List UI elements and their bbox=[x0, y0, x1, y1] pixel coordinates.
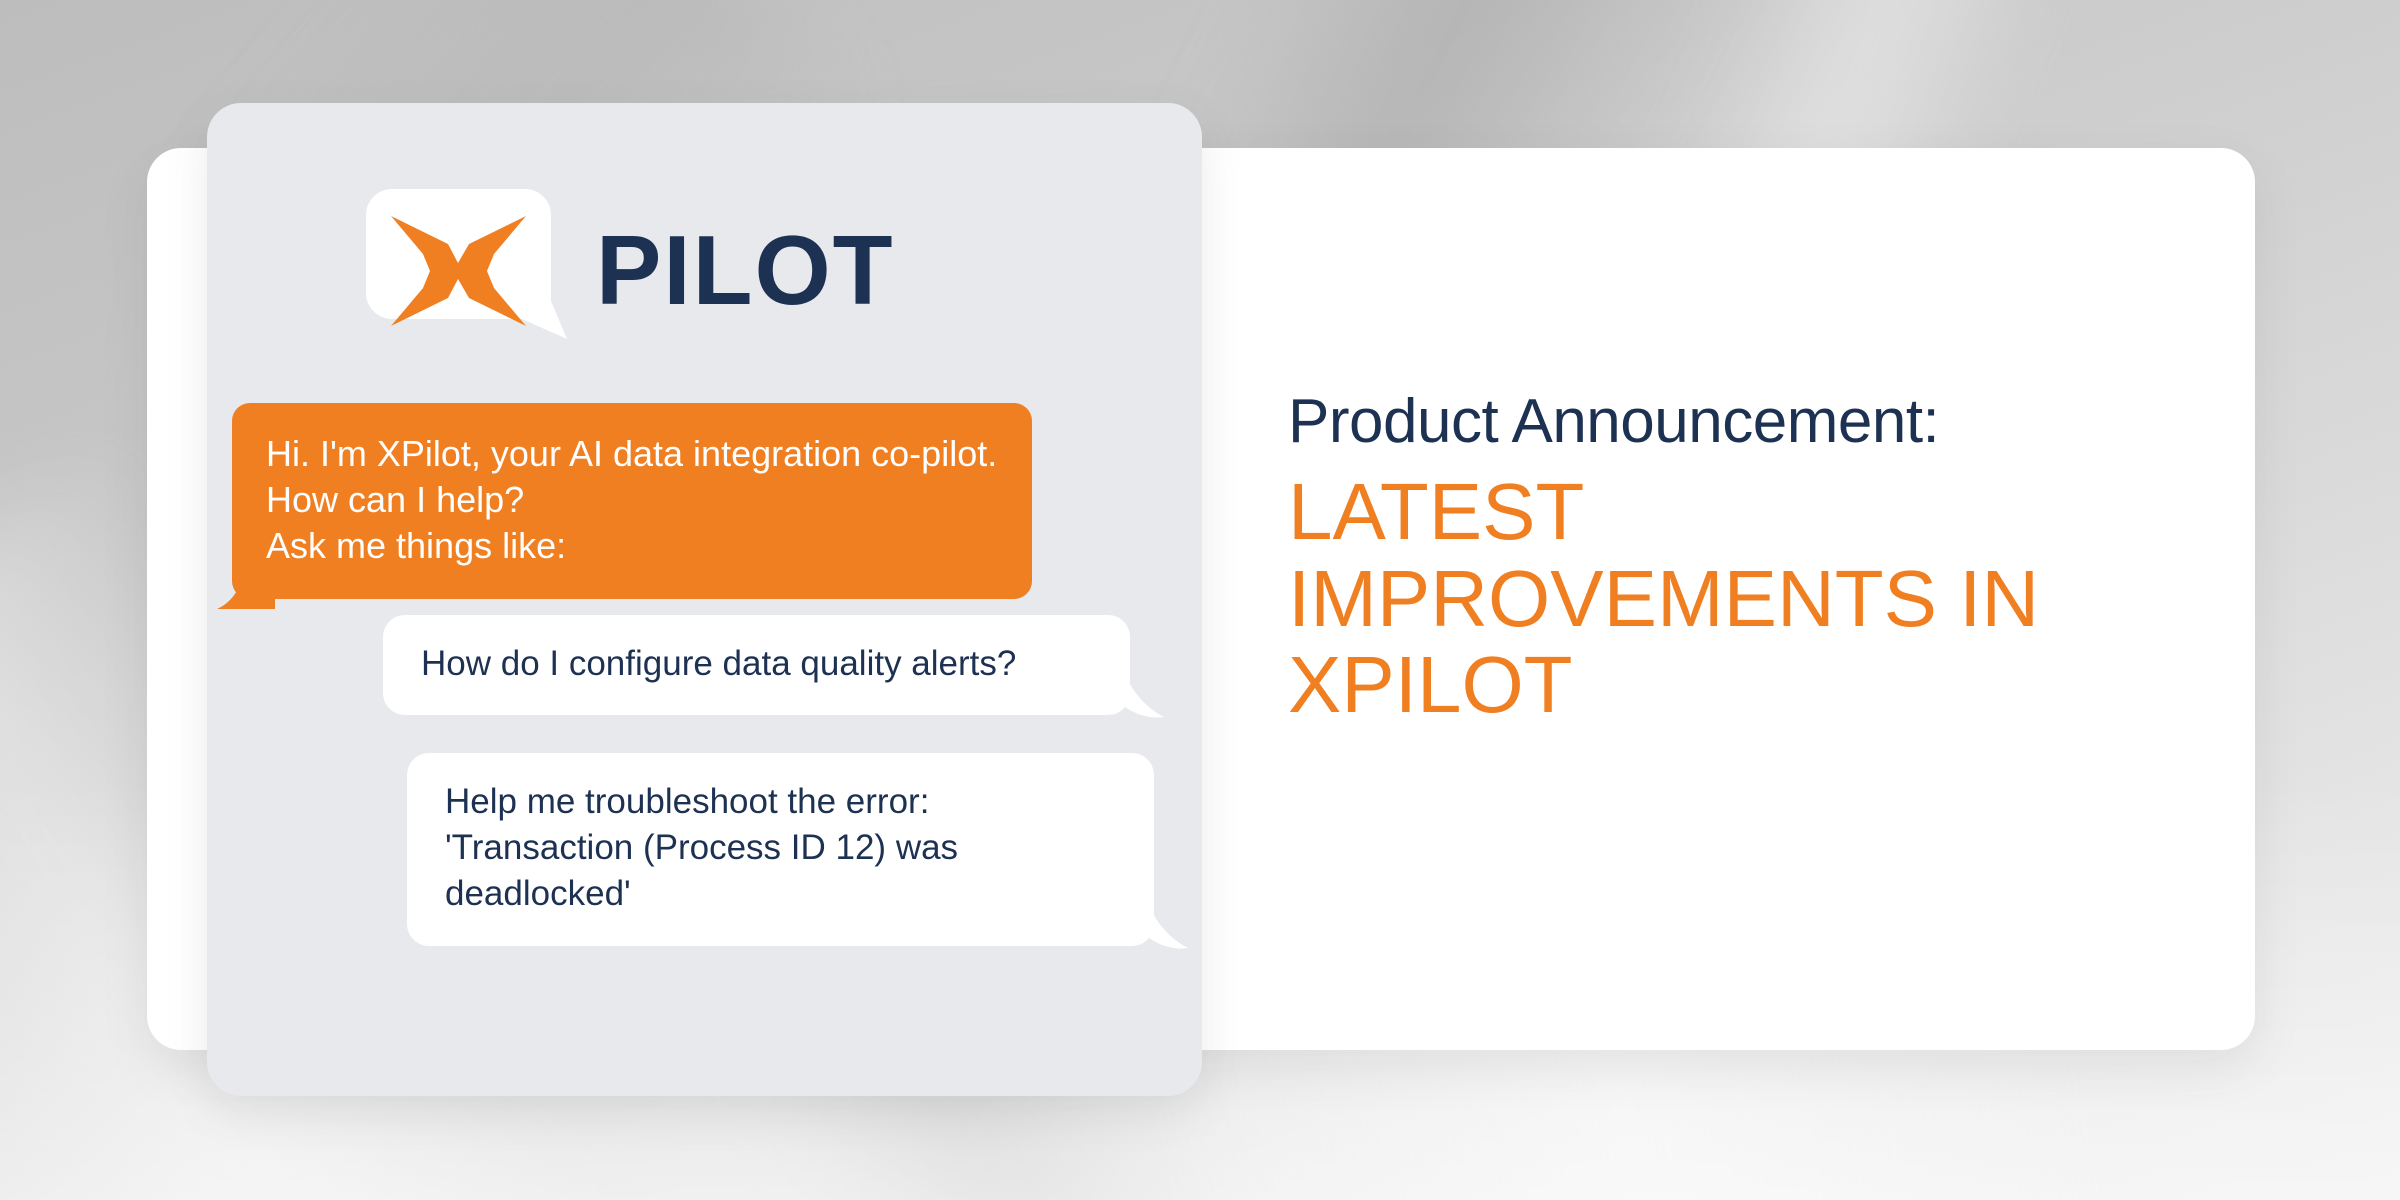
announcement-eyebrow: Product Announcement: bbox=[1288, 386, 2168, 457]
chat-panel: PILOT Hi. I'm XPilot, your AI data integ… bbox=[207, 103, 1202, 1096]
xpilot-logo-mark-icon bbox=[362, 185, 568, 360]
suggestion-bubble-1[interactable]: How do I configure data quality alerts? bbox=[383, 615, 1130, 715]
suggestion-text-1: How do I configure data quality alerts? bbox=[421, 641, 1094, 687]
xpilot-wordmark: PILOT bbox=[596, 221, 895, 325]
announcement-block: Product Announcement: LATEST IMPROVEMENT… bbox=[1288, 386, 2168, 728]
suggestion-bubble-2[interactable]: Help me troubleshoot the error: 'Transac… bbox=[407, 753, 1154, 946]
xpilot-logo: PILOT bbox=[362, 185, 895, 360]
announcement-headline: LATEST IMPROVEMENTS IN XPILOT bbox=[1288, 469, 2168, 728]
bubble-tail-icon bbox=[1122, 894, 1188, 950]
bubble-tail-icon bbox=[215, 563, 275, 611]
bubble-tail-icon bbox=[1098, 663, 1164, 719]
slide-canvas: PILOT Hi. I'm XPilot, your AI data integ… bbox=[0, 0, 2400, 1200]
assistant-intro-bubble: Hi. I'm XPilot, your AI data integration… bbox=[232, 403, 1032, 599]
suggestion-text-2: Help me troubleshoot the error: 'Transac… bbox=[445, 779, 1118, 918]
assistant-intro-text: Hi. I'm XPilot, your AI data integration… bbox=[266, 431, 998, 569]
